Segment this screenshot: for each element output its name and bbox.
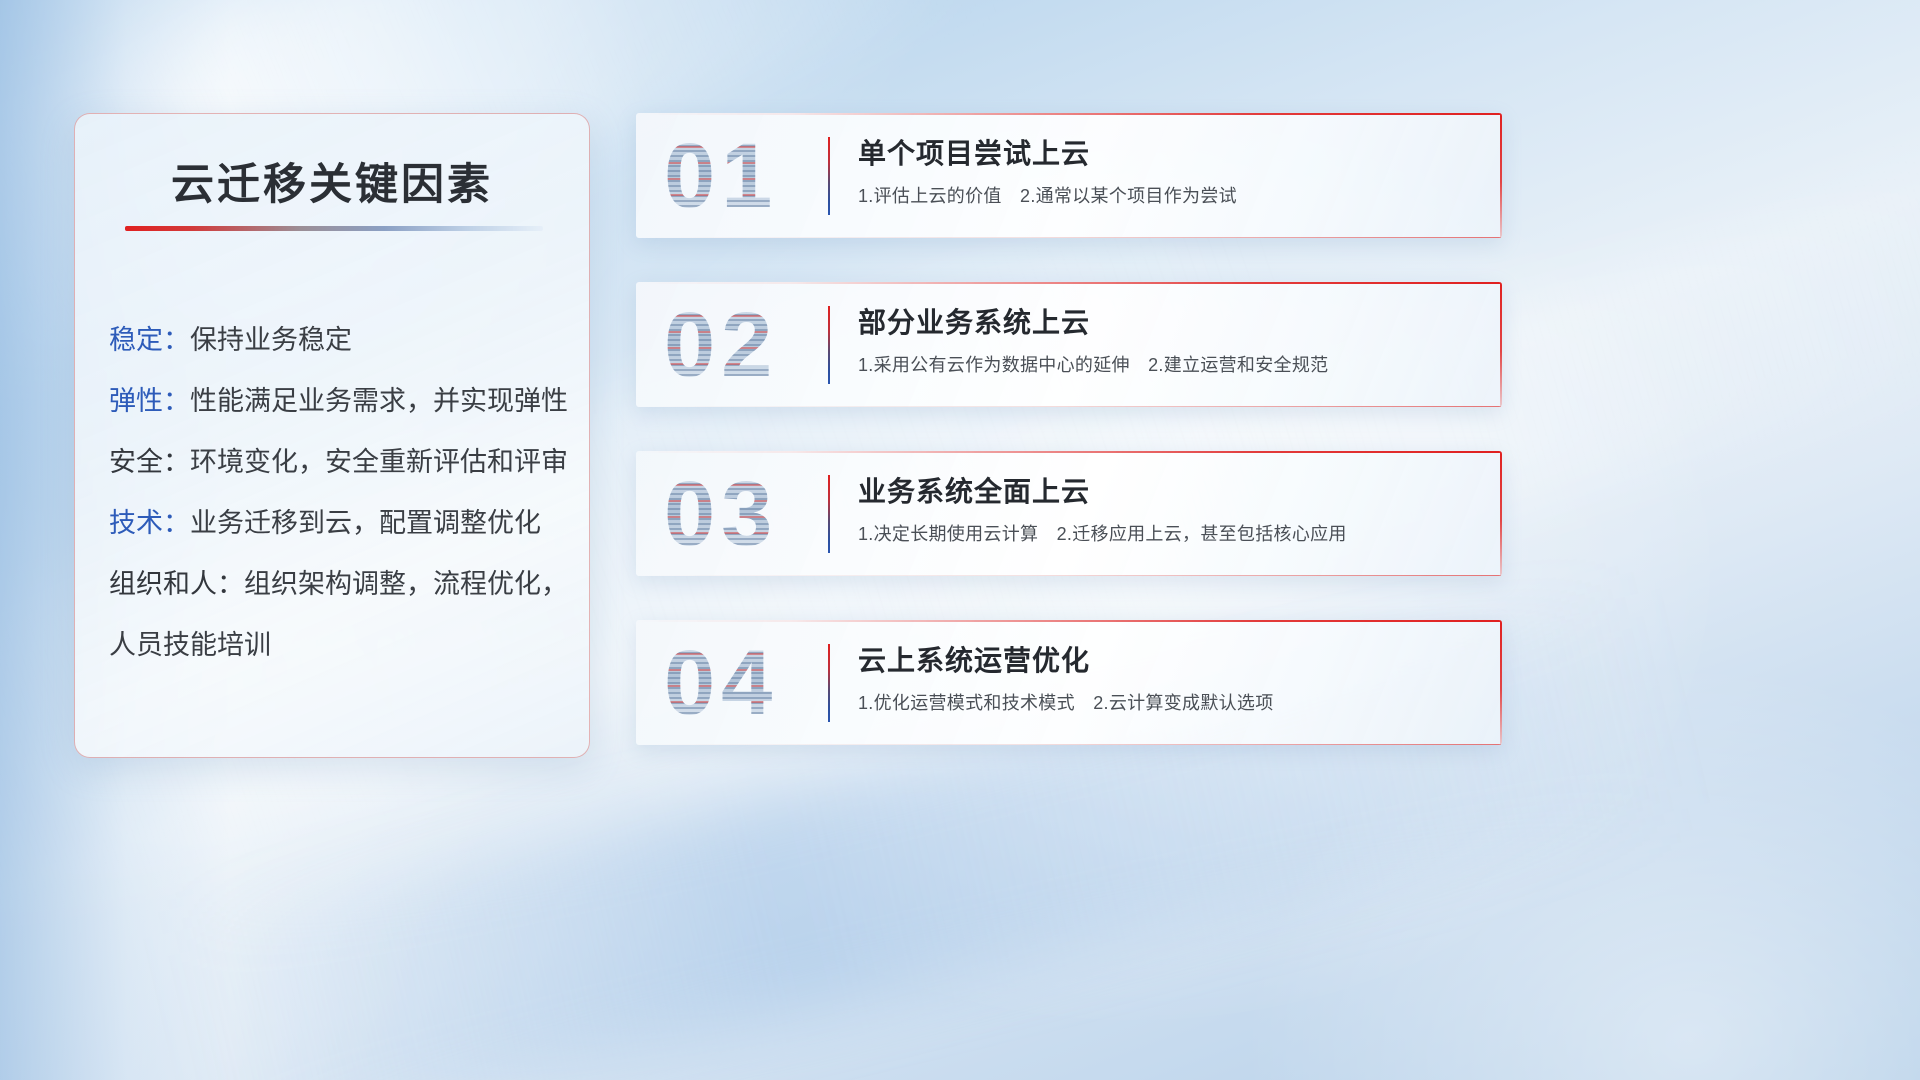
card-number-watermark: 01 <box>664 130 778 222</box>
page-title: 云迁移关键因素 <box>75 150 589 212</box>
factor-row: 安全：环境变化，安全重新评估和评审 <box>109 432 565 493</box>
card-description: 1.决定长期使用云计算 2.迁移应用上云，甚至包括核心应用 <box>858 521 1482 547</box>
card-top-accent-line <box>636 451 1502 453</box>
factor-label: 技术： <box>109 508 190 538</box>
factor-text: 保持业务稳定 <box>190 325 352 355</box>
factor-label: 弹性： <box>109 386 190 416</box>
factor-text: 业务迁移到云，配置调整优化 <box>190 508 541 538</box>
card-bottom-accent-line <box>636 237 1502 239</box>
slide-canvas: 云迁移关键因素 稳定：保持业务稳定弹性：性能满足业务需求，并实现弹性安全：环境变… <box>0 0 1920 1080</box>
card-title: 云上系统运营优化 <box>858 642 1482 680</box>
card-top-accent-line <box>636 113 1502 115</box>
factor-list: 稳定：保持业务稳定弹性：性能满足业务需求，并实现弹性安全：环境变化，安全重新评估… <box>109 310 565 676</box>
card-body: 单个项目尝试上云1.评估上云的价值 2.通常以某个项目作为尝试 <box>858 135 1482 209</box>
card-right-accent-line <box>1500 282 1502 407</box>
key-factors-panel: 云迁移关键因素 稳定：保持业务稳定弹性：性能满足业务需求，并实现弹性安全：环境变… <box>74 113 590 758</box>
stage-card[interactable]: 0101单个项目尝试上云1.评估上云的价值 2.通常以某个项目作为尝试 <box>636 113 1502 238</box>
card-number-watermark: 03 <box>664 468 778 560</box>
factor-row: 组织和人：组织架构调整，流程优化， <box>109 554 565 615</box>
factor-text: 环境变化，安全重新评估和评审 <box>190 447 568 477</box>
factor-label: 稳定： <box>109 325 190 355</box>
card-number-watermark: 02 <box>664 299 778 391</box>
factor-row: 人员技能培训 <box>109 615 565 676</box>
card-title: 单个项目尝试上云 <box>858 135 1482 173</box>
card-divider-bar <box>828 137 830 215</box>
stage-card[interactable]: 0404云上系统运营优化1.优化运营模式和技术模式 2.云计算变成默认选项 <box>636 620 1502 745</box>
card-right-accent-line <box>1500 113 1502 238</box>
stage-card[interactable]: 0303业务系统全面上云1.决定长期使用云计算 2.迁移应用上云，甚至包括核心应… <box>636 451 1502 576</box>
card-body: 云上系统运营优化1.优化运营模式和技术模式 2.云计算变成默认选项 <box>858 642 1482 716</box>
card-body: 业务系统全面上云1.决定长期使用云计算 2.迁移应用上云，甚至包括核心应用 <box>858 473 1482 547</box>
card-divider-bar <box>828 644 830 722</box>
title-underline-accent <box>125 226 543 231</box>
stage-card-list: 0101单个项目尝试上云1.评估上云的价值 2.通常以某个项目作为尝试0202部… <box>636 113 1502 789</box>
card-right-accent-line <box>1500 451 1502 576</box>
factor-label: 安全： <box>109 447 190 477</box>
card-divider-bar <box>828 306 830 384</box>
card-bottom-accent-line <box>636 744 1502 746</box>
factor-text: 人员技能培训 <box>109 630 271 660</box>
card-description: 1.采用公有云作为数据中心的延伸 2.建立运营和安全规范 <box>858 352 1482 378</box>
card-bottom-accent-line <box>636 406 1502 408</box>
factor-label: 组织和人： <box>109 569 244 599</box>
card-divider-bar <box>828 475 830 553</box>
factor-row: 技术：业务迁移到云，配置调整优化 <box>109 493 565 554</box>
factor-row: 稳定：保持业务稳定 <box>109 310 565 371</box>
card-right-accent-line <box>1500 620 1502 745</box>
card-top-accent-line <box>636 282 1502 284</box>
stage-card[interactable]: 0202部分业务系统上云1.采用公有云作为数据中心的延伸 2.建立运营和安全规范 <box>636 282 1502 407</box>
card-description: 1.评估上云的价值 2.通常以某个项目作为尝试 <box>858 183 1482 209</box>
card-title: 部分业务系统上云 <box>858 304 1482 342</box>
factor-text: 组织架构调整，流程优化， <box>244 569 568 599</box>
card-title: 业务系统全面上云 <box>858 473 1482 511</box>
card-top-accent-line <box>636 620 1502 622</box>
factor-row: 弹性：性能满足业务需求，并实现弹性 <box>109 371 565 432</box>
card-bottom-accent-line <box>636 575 1502 577</box>
factor-text: 性能满足业务需求，并实现弹性 <box>190 386 568 416</box>
card-body: 部分业务系统上云1.采用公有云作为数据中心的延伸 2.建立运营和安全规范 <box>858 304 1482 378</box>
card-description: 1.优化运营模式和技术模式 2.云计算变成默认选项 <box>858 690 1482 716</box>
card-number-watermark: 04 <box>664 637 778 729</box>
